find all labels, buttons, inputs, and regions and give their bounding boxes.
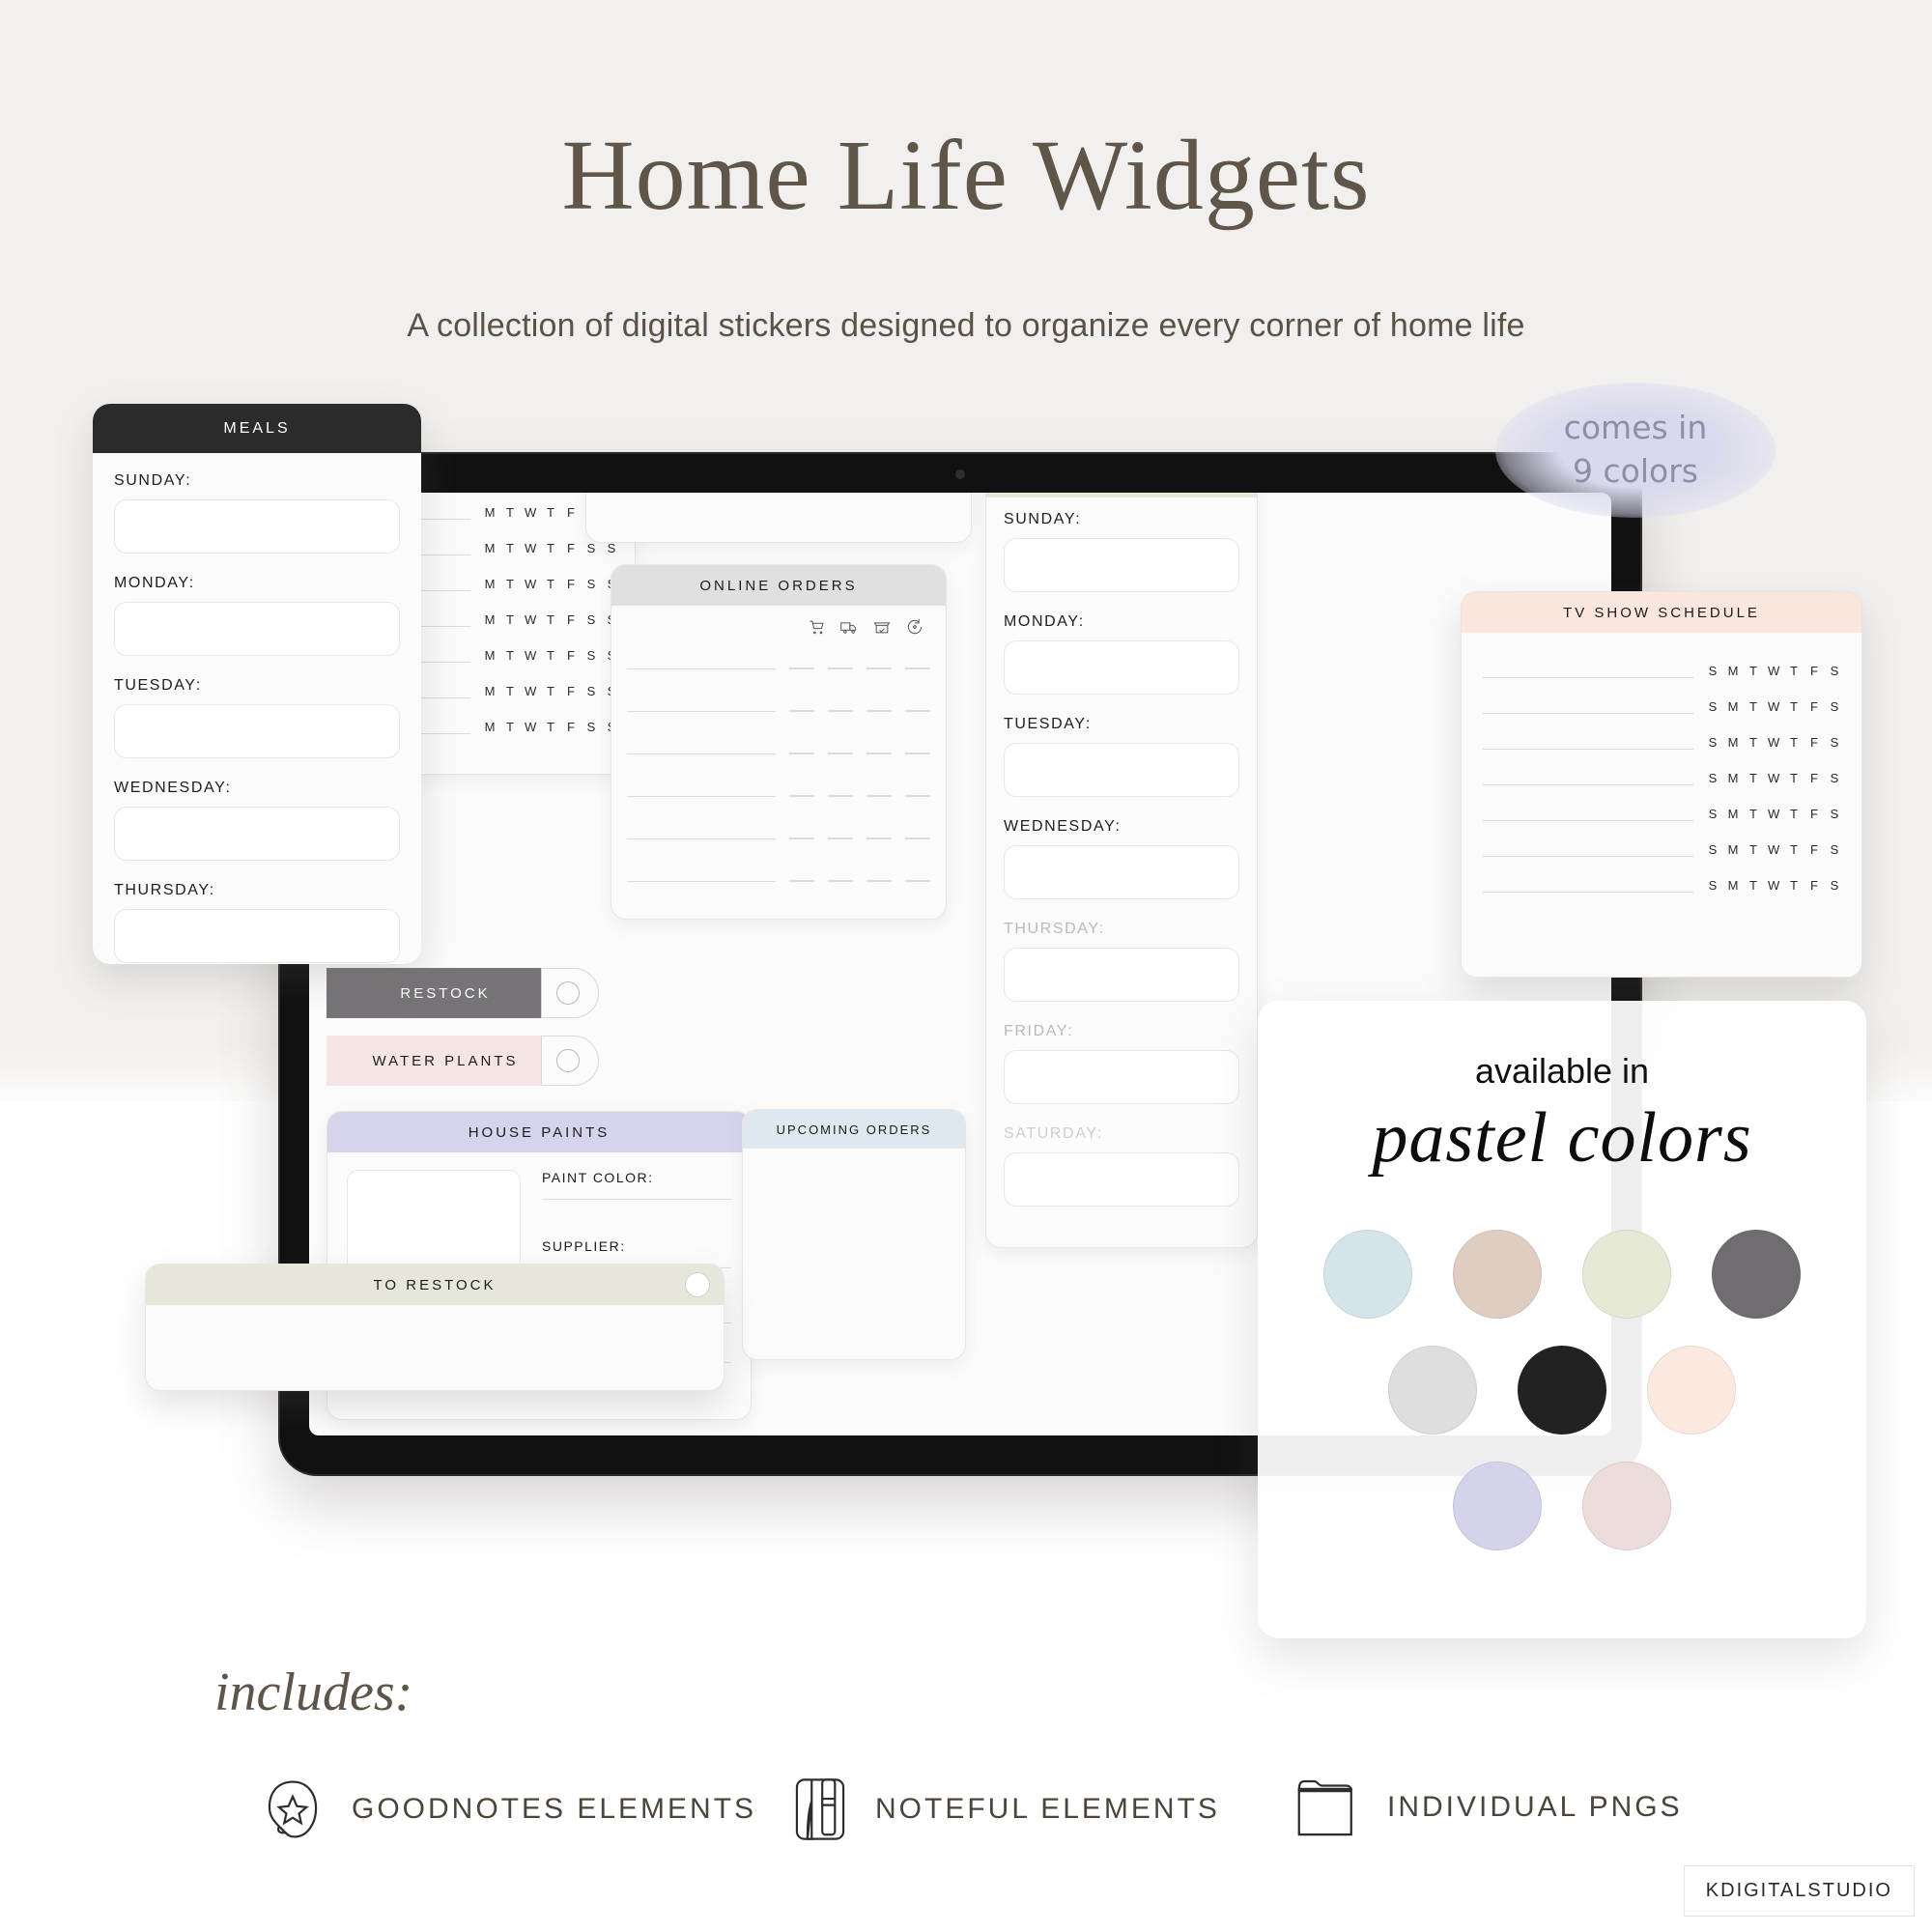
status-cell[interactable] <box>828 838 853 839</box>
tv-float-rows: S M T W T F S S M T W T F S <box>1462 633 1861 902</box>
day-letter[interactable]: W <box>1768 878 1779 893</box>
tv-schedule-row[interactable]: S M T W T F S <box>1483 699 1840 714</box>
day-letters[interactable]: M T W T F S S <box>484 648 617 663</box>
day-letter[interactable]: T <box>545 505 556 520</box>
swatch-row <box>1258 1346 1866 1435</box>
day-letter[interactable]: M <box>484 720 496 734</box>
day-letters[interactable]: S M T W T F S <box>1707 735 1840 750</box>
day-letters[interactable]: S M T W T F S <box>1707 842 1840 857</box>
tv-schedule-row[interactable]: S M T W T F S <box>1483 735 1840 750</box>
widget-to-order[interactable]: TO ORDER <box>585 493 972 543</box>
supplier-label: SUPPLIER: <box>542 1238 731 1254</box>
status-cell[interactable] <box>867 710 892 712</box>
day-letter[interactable]: S <box>1829 771 1840 785</box>
widget-header-house-paints: HOUSE PAINTS <box>327 1112 751 1152</box>
water-plants-button-label: WATER PLANTS <box>372 1053 518 1069</box>
meal-day-input[interactable] <box>114 602 400 656</box>
day-letter[interactable]: S <box>1707 664 1719 678</box>
dinner-fields: SUNDAY: MONDAY: TUESDAY: WEDNESDAY: THUR… <box>986 497 1257 1245</box>
online-orders-table <box>627 668 930 882</box>
day-letter[interactable]: F <box>565 684 577 698</box>
day-letter[interactable]: S <box>606 541 617 555</box>
dinner-day-input[interactable] <box>1004 1050 1239 1104</box>
restock-button[interactable]: RESTOCK <box>327 968 564 1018</box>
day-letter[interactable]: M <box>1727 878 1739 893</box>
day-letter[interactable]: W <box>1768 664 1779 678</box>
meal-day-input[interactable] <box>114 807 400 861</box>
dinner-day-label: SATURDAY: <box>1004 1125 1239 1143</box>
table-row[interactable] <box>627 838 930 839</box>
day-letter[interactable]: S <box>1707 842 1719 857</box>
day-letter[interactable]: M <box>1727 664 1739 678</box>
day-letter[interactable]: T <box>504 541 516 555</box>
includes-item-pngs: INDIVIDUAL PNGS <box>1293 1776 1683 1839</box>
includes-item-label: INDIVIDUAL PNGS <box>1387 1791 1683 1824</box>
day-letter[interactable]: M <box>484 541 496 555</box>
day-letter[interactable]: S <box>1707 807 1719 821</box>
day-letter[interactable]: T <box>1788 771 1800 785</box>
widget-upcoming-orders[interactable]: UPCOMING ORDERS <box>742 1109 966 1360</box>
order-name-line[interactable] <box>627 711 776 712</box>
widget-meals[interactable]: MEALS SUNDAY: MONDAY: TUESDAY: WEDNESDAY… <box>93 404 421 964</box>
status-cell[interactable] <box>867 753 892 754</box>
status-cell[interactable] <box>905 710 930 712</box>
tv-schedule-row[interactable]: S M T W T F S <box>1483 842 1840 857</box>
meals-fields: SUNDAY: MONDAY: TUESDAY: WEDNESDAY: THUR… <box>93 453 421 964</box>
meal-day-input[interactable] <box>114 704 400 758</box>
restock-button-label: RESTOCK <box>400 985 490 1002</box>
day-letters[interactable]: S M T W T F S <box>1707 878 1840 893</box>
day-letter[interactable]: M <box>1727 842 1739 857</box>
return-arrow-icon[interactable] <box>905 617 924 637</box>
day-letter[interactable]: M <box>484 612 496 627</box>
day-letter[interactable]: W <box>525 612 536 627</box>
includes-item-noteful: NOTEFUL ELEMENTS <box>790 1776 1220 1843</box>
bubble-line-1: comes in <box>1564 407 1708 450</box>
meal-day-label: MONDAY: <box>114 575 400 592</box>
day-letter[interactable]: T <box>545 577 556 591</box>
day-letter[interactable]: F <box>565 612 577 627</box>
swatch-pastel-beige[interactable] <box>1453 1230 1542 1319</box>
to-restock-body[interactable] <box>146 1305 724 1377</box>
tablet-camera-icon <box>955 469 965 479</box>
day-letters[interactable]: M T W T F S S <box>484 577 617 591</box>
show-name-line[interactable] <box>1483 784 1693 785</box>
day-letter[interactable]: M <box>1727 771 1739 785</box>
day-letter[interactable]: T <box>504 648 516 663</box>
day-letters[interactable]: M T W T F S S <box>484 720 617 734</box>
day-letter[interactable]: W <box>1768 771 1779 785</box>
day-letter[interactable]: F <box>565 505 577 520</box>
meal-day-label: SUNDAY: <box>114 472 400 490</box>
includes-item-goodnotes: GOODNOTES ELEMENTS <box>259 1776 756 1843</box>
dinner-day-input[interactable] <box>1004 845 1239 899</box>
dinner-day-label: THURSDAY: <box>1004 921 1239 938</box>
page-title: Home Life Widgets <box>0 126 1932 226</box>
includes-item-label: GOODNOTES ELEMENTS <box>352 1793 756 1826</box>
day-letter[interactable]: F <box>1808 699 1820 714</box>
meal-day-label: THURSDAY: <box>114 882 400 899</box>
day-letter[interactable]: T <box>545 720 556 734</box>
paint-color-label: PAINT COLOR: <box>542 1170 731 1185</box>
day-letter[interactable]: W <box>1768 735 1779 750</box>
day-letter[interactable]: W <box>1768 699 1779 714</box>
day-letter[interactable]: M <box>1727 699 1739 714</box>
dinner-day-input[interactable] <box>1004 948 1239 1002</box>
meal-day-label: WEDNESDAY: <box>114 780 400 797</box>
water-plants-knob-icon[interactable] <box>556 1049 580 1072</box>
delivery-truck-icon[interactable] <box>839 617 859 637</box>
day-letter[interactable]: S <box>585 720 597 734</box>
day-letter[interactable]: T <box>1747 771 1759 785</box>
status-cell[interactable] <box>905 795 930 797</box>
status-cell[interactable] <box>867 668 892 669</box>
day-letter[interactable]: S <box>1829 807 1840 821</box>
show-name-line[interactable] <box>1483 856 1693 857</box>
status-cell[interactable] <box>905 880 930 882</box>
day-letter[interactable]: S <box>1829 664 1840 678</box>
day-letter[interactable]: S <box>1829 699 1840 714</box>
status-cell[interactable] <box>789 838 814 839</box>
dinner-day-label: WEDNESDAY: <box>1004 818 1239 836</box>
pen-case-icon <box>790 1776 850 1843</box>
day-letter[interactable]: T <box>504 612 516 627</box>
water-plants-button[interactable]: WATER PLANTS <box>327 1036 564 1086</box>
order-name-line[interactable] <box>627 668 776 669</box>
status-cell[interactable] <box>789 795 814 797</box>
day-letter[interactable]: T <box>545 541 556 555</box>
upcoming-orders-body[interactable] <box>743 1149 965 1360</box>
day-letter[interactable]: S <box>585 684 597 698</box>
day-letter[interactable]: T <box>1788 699 1800 714</box>
day-letter[interactable]: T <box>1788 878 1800 893</box>
status-cell[interactable] <box>789 668 814 669</box>
swatch-row <box>1258 1462 1866 1550</box>
swatch-light-gray[interactable] <box>1388 1346 1477 1435</box>
status-cell[interactable] <box>789 710 814 712</box>
day-letter[interactable]: S <box>1829 842 1840 857</box>
day-letter[interactable]: W <box>525 541 536 555</box>
day-letter[interactable]: F <box>565 648 577 663</box>
day-letter[interactable]: M <box>484 505 496 520</box>
status-cell[interactable] <box>867 838 892 839</box>
day-letter[interactable]: M <box>1727 807 1739 821</box>
day-letter[interactable]: T <box>504 577 516 591</box>
day-letter[interactable]: F <box>1808 807 1820 821</box>
pastel-small-text: available in <box>1258 1051 1866 1092</box>
day-letter[interactable]: W <box>525 648 536 663</box>
day-letter[interactable]: S <box>1707 735 1719 750</box>
show-name-line[interactable] <box>1483 892 1693 893</box>
swatch-row <box>1258 1230 1866 1319</box>
day-letter[interactable]: W <box>525 720 536 734</box>
day-letter[interactable]: S <box>1707 878 1719 893</box>
day-letter[interactable]: M <box>484 648 496 663</box>
shopping-cart-icon[interactable] <box>807 617 826 637</box>
widget-header-to-restock: TO RESTOCK <box>146 1264 724 1305</box>
folder-icon <box>1293 1776 1362 1839</box>
dinner-day-input[interactable] <box>1004 538 1239 592</box>
day-letter[interactable]: S <box>1829 878 1840 893</box>
pastel-big-text: pastel colors <box>1258 1097 1866 1179</box>
status-cell[interactable] <box>828 753 853 754</box>
day-letter[interactable]: T <box>545 648 556 663</box>
status-cell[interactable] <box>789 753 814 754</box>
day-letters[interactable]: S M T W T F S <box>1707 807 1840 821</box>
swatch-pastel-peach[interactable] <box>1647 1346 1736 1435</box>
includes-item-label: NOTEFUL ELEMENTS <box>875 1793 1220 1826</box>
day-letter[interactable]: T <box>1788 735 1800 750</box>
day-letter[interactable]: T <box>1747 878 1759 893</box>
tv-schedule-row[interactable]: S M T W T F S <box>1483 807 1840 821</box>
swatch-black[interactable] <box>1518 1346 1606 1435</box>
includes-label: includes: <box>214 1662 412 1723</box>
day-letter[interactable]: F <box>565 720 577 734</box>
day-letter[interactable]: T <box>1788 807 1800 821</box>
dinner-day-label: TUESDAY: <box>1004 716 1239 733</box>
widget-online-orders[interactable]: ONLINE ORDERS <box>611 564 947 920</box>
show-name-line[interactable] <box>1483 713 1693 714</box>
dinner-day-input[interactable] <box>1004 640 1239 695</box>
widget-tv-show-schedule-peach[interactable]: TV SHOW SCHEDULE S M T W T F S S M T W T… <box>1461 591 1862 978</box>
day-letter[interactable]: S <box>585 541 597 555</box>
dinner-day-label: SUNDAY: <box>1004 511 1239 528</box>
show-name-line[interactable] <box>1483 820 1693 821</box>
status-cell[interactable] <box>905 668 930 669</box>
comes-in-colors-bubble: comes in 9 colors <box>1495 383 1776 518</box>
table-row[interactable] <box>627 753 930 754</box>
status-cell[interactable] <box>867 795 892 797</box>
day-letters[interactable]: S M T W T F S <box>1707 664 1840 678</box>
toggle-knob-icon[interactable] <box>685 1272 710 1297</box>
status-cell[interactable] <box>905 838 930 839</box>
store-pickup-icon[interactable] <box>872 617 892 637</box>
day-letter[interactable]: S <box>585 648 597 663</box>
day-letter[interactable]: W <box>525 505 536 520</box>
day-letters[interactable]: S M T W T F S <box>1707 699 1840 714</box>
day-letter[interactable]: S <box>585 612 597 627</box>
dinner-day-input[interactable] <box>1004 743 1239 797</box>
swatch-pastel-pink[interactable] <box>1582 1462 1671 1550</box>
day-letter[interactable]: T <box>504 505 516 520</box>
day-letter[interactable]: W <box>525 684 536 698</box>
paint-color-input[interactable] <box>542 1199 731 1200</box>
status-cell[interactable] <box>789 880 814 882</box>
widget-header-meals: MEALS <box>93 404 421 453</box>
widget-header-upcoming-orders: UPCOMING ORDERS <box>743 1110 965 1149</box>
day-letter[interactable]: T <box>1747 735 1759 750</box>
widget-dinner[interactable]: DINNER SUNDAY: MONDAY: TUESDAY: WEDNESDA… <box>985 493 1258 1248</box>
day-letter[interactable]: W <box>1768 807 1779 821</box>
table-row[interactable] <box>627 880 930 882</box>
watermark: KDIGITALSTUDIO <box>1684 1865 1915 1917</box>
status-cell[interactable] <box>828 668 853 669</box>
sticker-star-icon <box>259 1776 327 1843</box>
day-letter[interactable]: M <box>1727 735 1739 750</box>
day-letter[interactable]: S <box>585 577 597 591</box>
tv-schedule-row[interactable]: S M T W T F S <box>1483 878 1840 893</box>
pastel-colors-card: available in pastel colors <box>1258 1001 1866 1638</box>
order-name-line[interactable] <box>627 881 776 882</box>
status-cell[interactable] <box>905 753 930 754</box>
swatch-pastel-green[interactable] <box>1582 1230 1671 1319</box>
status-cell[interactable] <box>828 880 853 882</box>
show-name-line[interactable] <box>1483 677 1693 678</box>
day-letter[interactable]: T <box>1747 842 1759 857</box>
table-row[interactable] <box>627 795 930 797</box>
day-letter[interactable]: T <box>1747 807 1759 821</box>
day-letter[interactable]: M <box>484 577 496 591</box>
status-cell[interactable] <box>867 880 892 882</box>
day-letter[interactable]: M <box>484 684 496 698</box>
swatch-grid <box>1258 1230 1866 1550</box>
widget-header-online-orders: ONLINE ORDERS <box>611 565 946 606</box>
day-letter[interactable]: F <box>1808 664 1820 678</box>
day-letter[interactable]: F <box>1808 842 1820 857</box>
status-cell[interactable] <box>828 795 853 797</box>
day-letter[interactable]: S <box>1707 771 1719 785</box>
day-letter[interactable]: T <box>1747 664 1759 678</box>
day-letter[interactable]: F <box>565 577 577 591</box>
day-letter[interactable]: T <box>1788 842 1800 857</box>
meal-day-label: TUESDAY: <box>114 677 400 695</box>
day-letters[interactable]: M T W T F S S <box>484 612 617 627</box>
day-letter[interactable]: S <box>1707 699 1719 714</box>
bubble-line-2: 9 colors <box>1573 450 1698 494</box>
show-name-line[interactable] <box>1483 749 1693 750</box>
order-name-line[interactable] <box>627 838 776 839</box>
meal-day-input[interactable] <box>114 499 400 554</box>
day-letter[interactable]: S <box>1829 735 1840 750</box>
day-letters[interactable]: M T W T F S S <box>484 684 617 698</box>
dinner-day-label: MONDAY: <box>1004 613 1239 631</box>
swatch-pastel-lilac[interactable] <box>1453 1462 1542 1550</box>
widget-to-restock[interactable]: TO RESTOCK <box>145 1264 724 1391</box>
table-row[interactable] <box>627 668 930 669</box>
dinner-day-input[interactable] <box>1004 1152 1239 1207</box>
online-orders-icon-row <box>627 613 930 646</box>
page-subtitle: A collection of digital stickers designe… <box>0 307 1932 345</box>
day-letter[interactable]: T <box>545 684 556 698</box>
day-letter[interactable]: F <box>1808 771 1820 785</box>
dinner-day-label: FRIDAY: <box>1004 1023 1239 1040</box>
order-name-line[interactable] <box>627 796 776 797</box>
day-letter[interactable]: W <box>525 577 536 591</box>
day-letter[interactable]: W <box>1768 842 1779 857</box>
status-cell[interactable] <box>828 710 853 712</box>
day-letter[interactable]: T <box>545 612 556 627</box>
day-letter[interactable]: T <box>504 684 516 698</box>
widget-header-dinner: DINNER <box>986 493 1257 497</box>
order-name-line[interactable] <box>627 753 776 754</box>
restock-knob-icon[interactable] <box>556 981 580 1005</box>
day-letter[interactable]: F <box>1808 735 1820 750</box>
tv-schedule-row[interactable]: S M T W T F S <box>1483 771 1840 785</box>
day-letter[interactable]: F <box>565 541 577 555</box>
table-row[interactable] <box>627 710 930 712</box>
swatch-pastel-blue[interactable] <box>1323 1230 1412 1319</box>
meal-day-input[interactable] <box>114 909 400 963</box>
widget-header-tv-show-schedule-peach: TV SHOW SCHEDULE <box>1462 592 1861 633</box>
day-letters[interactable]: S M T W T F S <box>1707 771 1840 785</box>
swatch-dark-gray[interactable] <box>1712 1230 1801 1319</box>
day-letter[interactable]: T <box>1747 699 1759 714</box>
day-letter[interactable]: T <box>1788 664 1800 678</box>
day-letters[interactable]: M T W T F S S <box>484 541 617 555</box>
day-letter[interactable]: T <box>504 720 516 734</box>
tv-schedule-row[interactable]: S M T W T F S <box>1483 664 1840 678</box>
day-letter[interactable]: F <box>1808 878 1820 893</box>
